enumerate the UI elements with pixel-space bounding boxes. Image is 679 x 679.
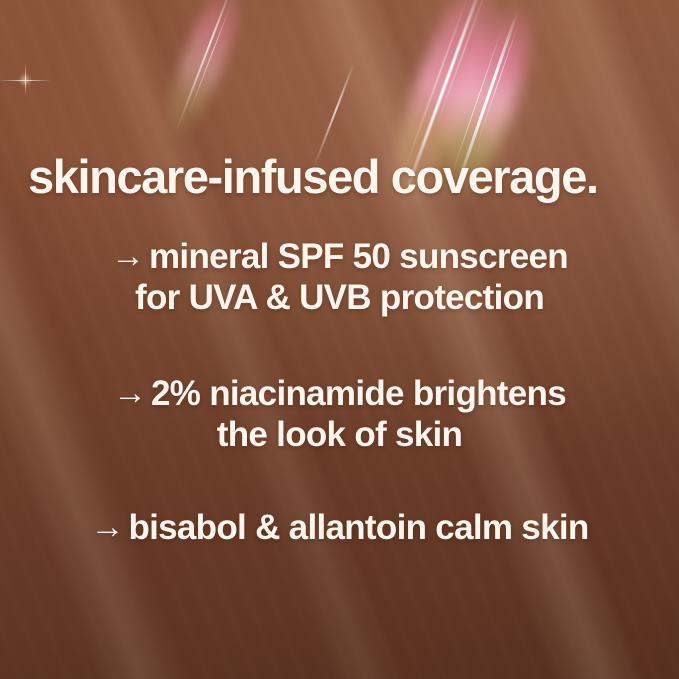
claim-item-spf: →mineral SPF 50 sunscreen for UVA & UVB … (0, 236, 679, 319)
claim-item-bisabol: →bisabol & allantoin calm skin (0, 507, 679, 548)
claim-item-niacinamide-line1: 2% niacinamide brightens (151, 374, 566, 413)
arrow-right-icon: → (111, 236, 145, 276)
arrow-right-icon: → (90, 507, 124, 547)
arrow-right-icon: → (113, 373, 147, 413)
page-headline: skincare-infused coverage. (28, 152, 598, 201)
product-claims-banner: skincare-infused coverage. →mineral SPF … (0, 0, 679, 679)
claim-item-bisabol-line1: bisabol & allantoin calm skin (128, 508, 588, 547)
claim-item-niacinamide-line2: the look of skin (34, 414, 645, 455)
content-layer: skincare-infused coverage. →mineral SPF … (0, 0, 679, 679)
claim-item-spf-line1: mineral SPF 50 sunscreen (149, 237, 568, 276)
claim-item-spf-line2: for UVA & UVB protection (34, 277, 645, 318)
claim-item-niacinamide: →2% niacinamide brightens the look of sk… (0, 373, 679, 456)
claims-list: →mineral SPF 50 sunscreen for UVA & UVB … (0, 236, 679, 548)
